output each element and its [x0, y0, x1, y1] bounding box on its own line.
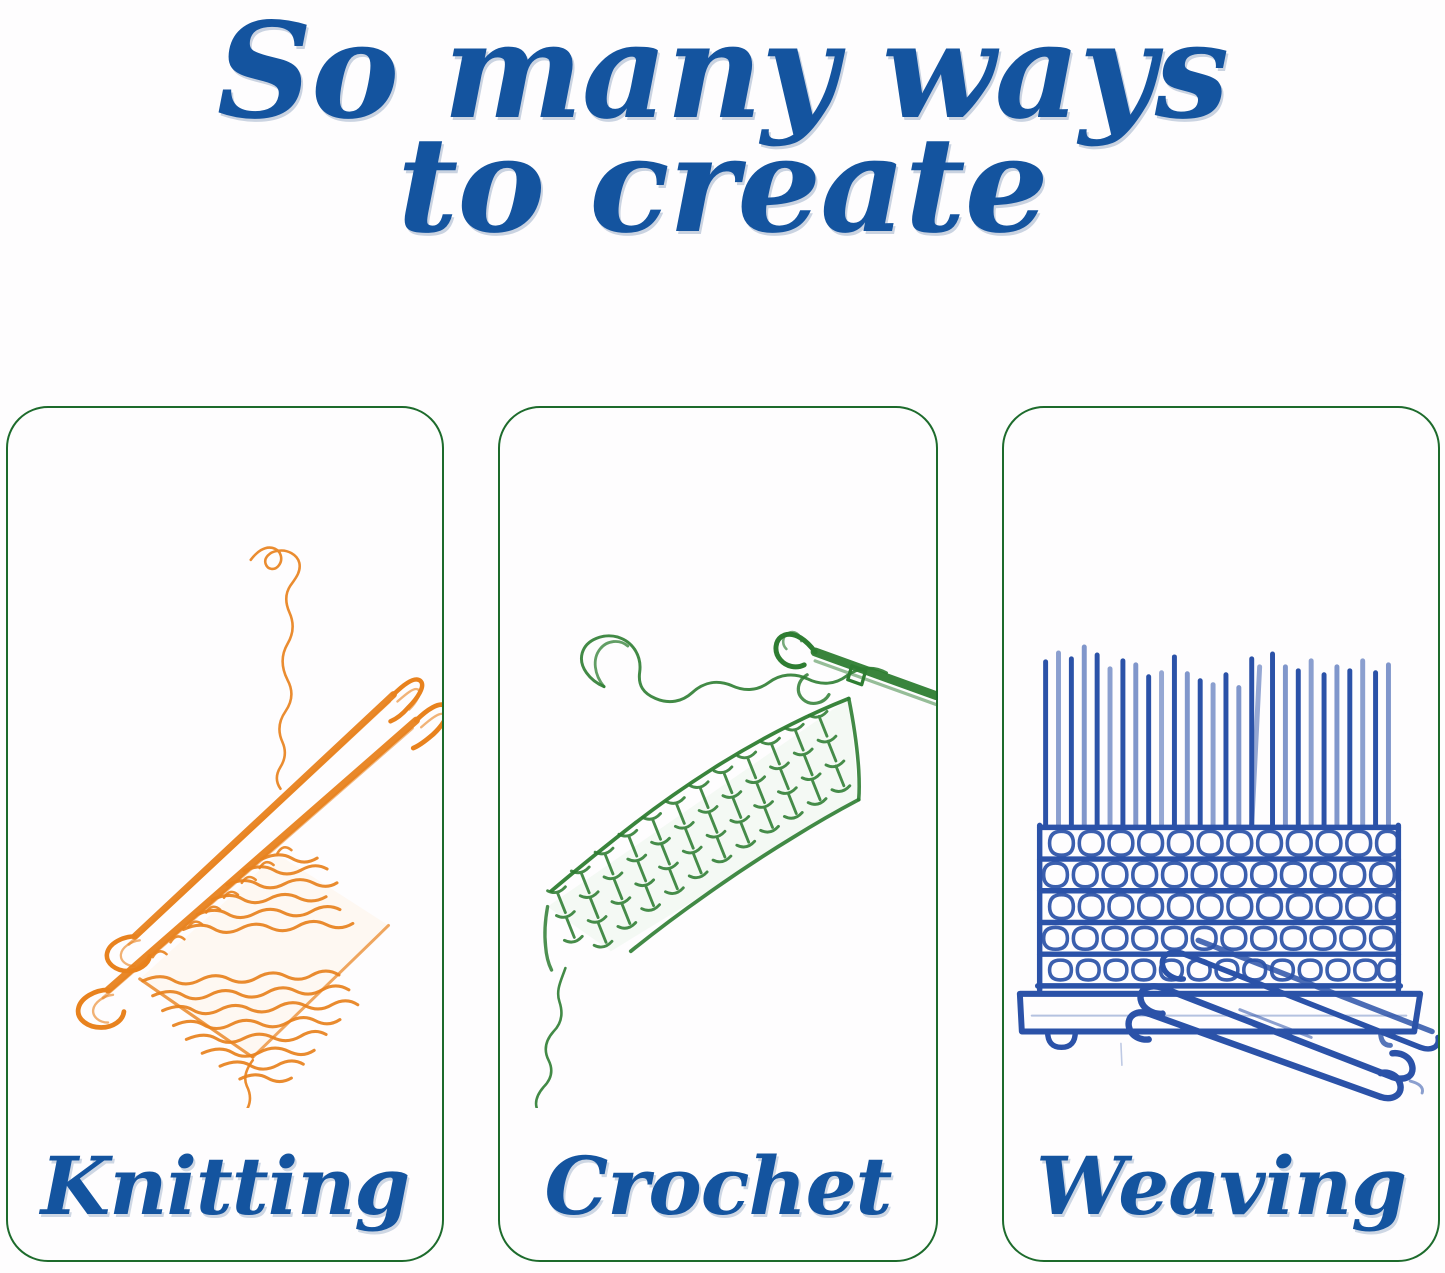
card-label-weaving: Weaving [1004, 1146, 1438, 1226]
weaving-loom-icon [1004, 408, 1438, 1108]
craft-card-crochet[interactable]: Crochet [498, 406, 938, 1262]
craft-card-knitting[interactable]: Knitting [6, 406, 444, 1262]
card-label-crochet: Crochet [500, 1146, 936, 1226]
page-title: So many ways to create [0, 6, 1445, 252]
card-label-knitting: Knitting [8, 1146, 442, 1226]
crochet-hook-icon [500, 408, 936, 1108]
craft-card-weaving[interactable]: Weaving [1002, 406, 1440, 1262]
poster-root: So many ways to create [0, 0, 1445, 1273]
knitting-needles-icon [8, 408, 442, 1108]
